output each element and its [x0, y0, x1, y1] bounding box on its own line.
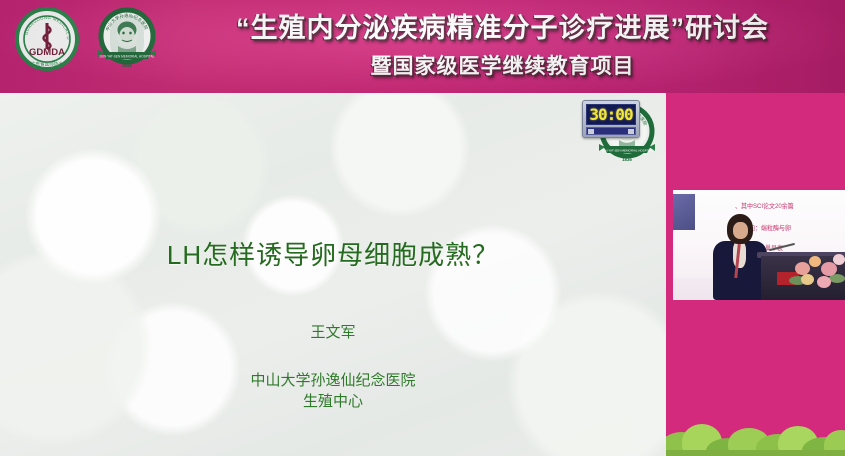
flower — [809, 256, 821, 267]
slide-content: SUN YAT-SEN MEMORIAL HOSPITAL 1835 中山大学孙… — [0, 93, 666, 456]
svg-text:广东省医师协会: 广东省医师协会 — [31, 61, 64, 68]
flower — [817, 276, 831, 288]
timer-chip-left — [588, 129, 594, 134]
timer-value: 30:00 — [589, 107, 632, 123]
timer-progress-bar — [586, 127, 636, 135]
countdown-timer[interactable]: 30:00 — [582, 100, 640, 138]
gdmda-logo: GDMDA 广东省医师协会 GUANGDONG MEDICAL DOCTOR A… — [14, 6, 80, 72]
svg-text:SUN YAT-SEN MEMORIAL HOSPITAL: SUN YAT-SEN MEMORIAL HOSPITAL — [601, 148, 653, 152]
sun-yat-sen-memorial-hospital-logo: SUN YAT-SEN MEMORIAL HOSPITAL 1835 中山大学孙… — [92, 6, 162, 72]
affiliation-department: 生殖中心 — [0, 390, 666, 411]
conference-header-banner: GDMDA 广东省医师协会 GUANGDONG MEDICAL DOCTOR A… — [0, 0, 845, 93]
svg-text:SUN YAT-SEN MEMORIAL HOSPITAL: SUN YAT-SEN MEMORIAL HOSPITAL — [100, 55, 155, 59]
header-text-block: “生殖内分泌疾病精准分子诊疗进展”研讨会 暨国家级医学继续教育项目 — [168, 0, 837, 93]
conference-title: “生殖内分泌疾病精准分子诊疗进展”研讨会 — [236, 13, 769, 45]
presentation-slide[interactable]: SUN YAT-SEN MEMORIAL HOSPITAL 1835 中山大学孙… — [0, 93, 666, 456]
speaker-face — [733, 222, 748, 239]
svg-text:GDMDA: GDMDA — [29, 47, 65, 58]
tree-foliage-decoration — [666, 412, 845, 456]
presenter-name: 王文军 — [0, 321, 666, 342]
svg-text:1835: 1835 — [622, 157, 632, 162]
flower — [821, 262, 837, 276]
flower — [833, 254, 845, 265]
affiliation-hospital: 中山大学孙逸仙纪念医院 — [0, 369, 666, 390]
timer-chip-right — [628, 129, 634, 134]
flower — [801, 274, 814, 285]
timer-display: 30:00 — [586, 104, 636, 125]
slide-title: LH怎样诱导卵母细胞成熟？ — [0, 235, 666, 272]
slide-logo-cluster: SUN YAT-SEN MEMORIAL HOSPITAL 1835 中山大学孙… — [582, 100, 660, 168]
ground-strip — [666, 450, 845, 456]
video-overlay-text-1: 、其中SCI论文20余篇 — [735, 201, 794, 210]
conference-subtitle: 暨国家级医学继续教育项目 — [371, 50, 635, 80]
stage-banner — [673, 194, 695, 230]
svg-text:1835: 1835 — [122, 63, 133, 68]
speaker-video-feed[interactable]: 、其中SCI论文20余篇 研究方向：端粒酶与卵 巢早衰 — [673, 190, 845, 300]
